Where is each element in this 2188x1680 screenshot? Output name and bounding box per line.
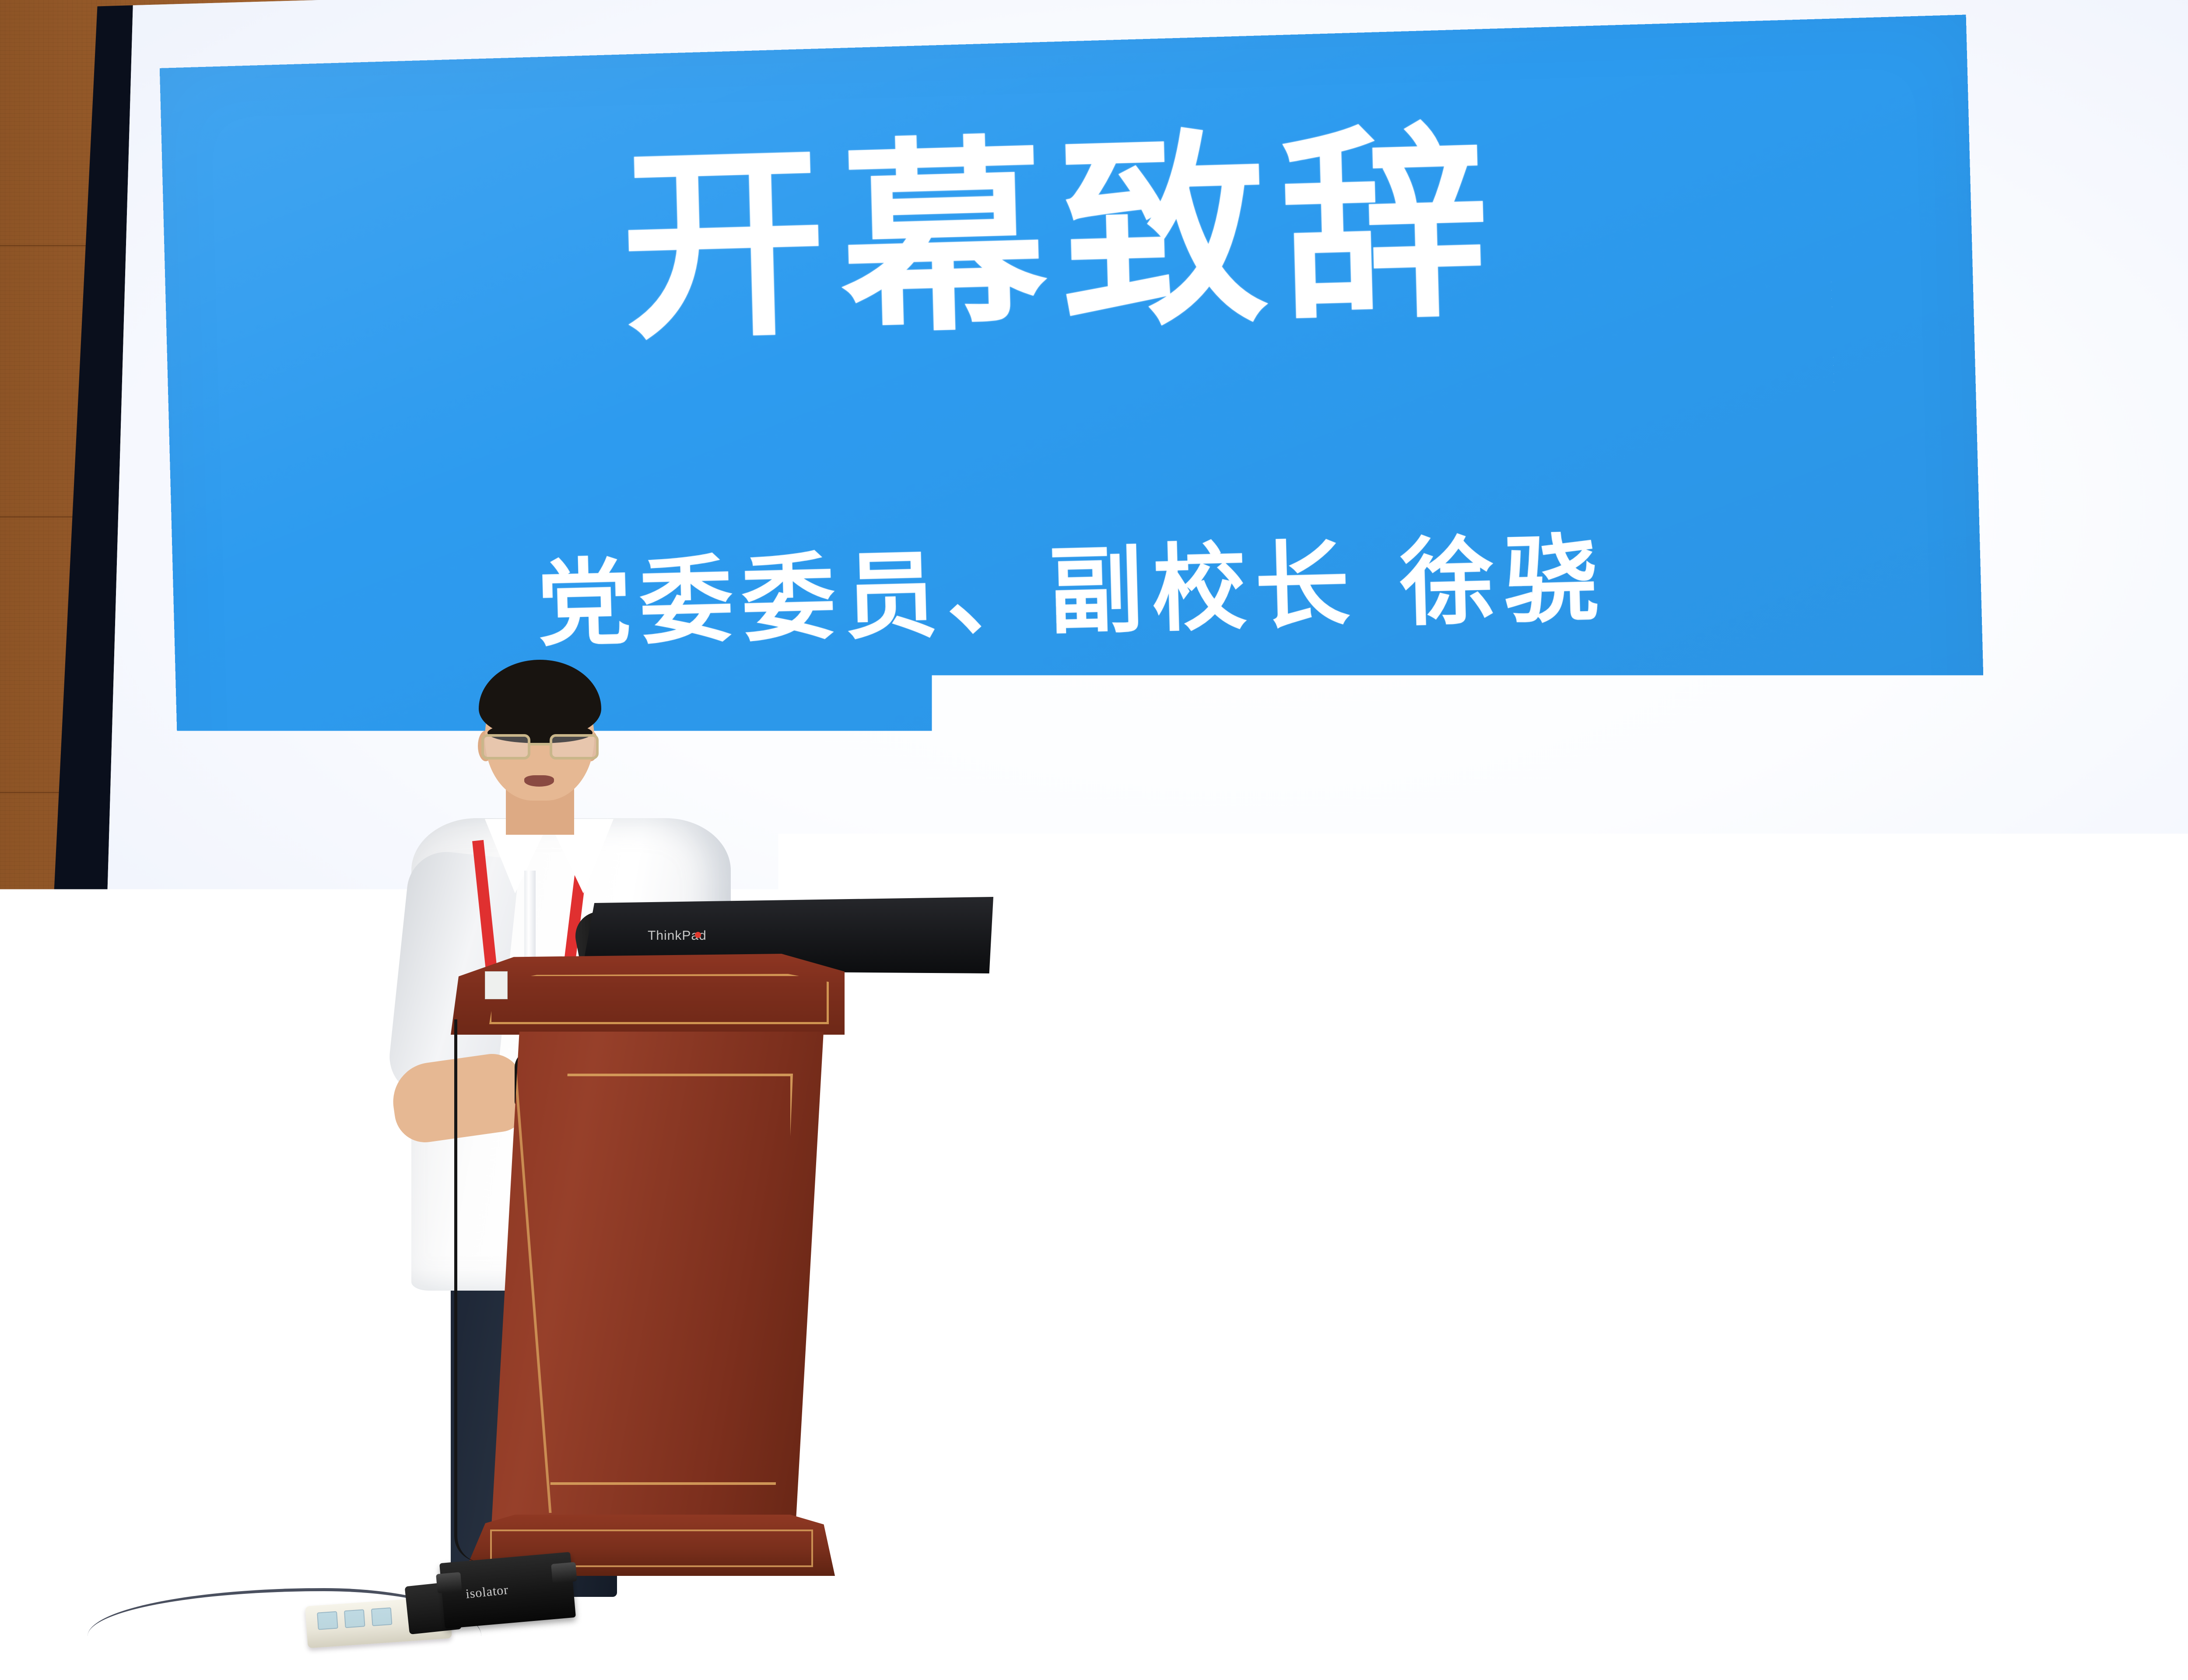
xlr-connector[interactable] xyxy=(436,1572,462,1593)
shirt-placket xyxy=(524,871,536,967)
lectern-body xyxy=(478,1032,824,1522)
presentation-hall-scene: 杭州医学院 HANGZHOU MEDICAL COLLEGE 开幕致辞 党委委员… xyxy=(0,0,2188,1680)
isolator-label: isolator xyxy=(465,1582,509,1602)
speaker-hair xyxy=(479,660,601,736)
floor-outlet-box[interactable] xyxy=(1529,1399,1575,1423)
microphone-cable-drape xyxy=(454,1019,494,1562)
glasses-lens-left xyxy=(481,734,530,759)
glasses-lens-right xyxy=(550,734,599,759)
speaker-mouth xyxy=(524,775,554,787)
xlr-connector[interactable] xyxy=(551,1562,577,1583)
lectern-front-inlay xyxy=(548,1074,793,1485)
lectern xyxy=(451,954,845,1601)
audio-isolator-box: isolator xyxy=(439,1552,576,1629)
lectern-top xyxy=(451,954,845,1035)
lectern-top-inlay xyxy=(489,974,829,1024)
floor-warm-left xyxy=(0,1330,333,1518)
projection-screen-frame: 杭州医学院 HANGZHOU MEDICAL COLLEGE 开幕致辞 党委委员… xyxy=(24,0,2188,1317)
power-socket[interactable] xyxy=(344,1609,365,1628)
lectern-edge-trim xyxy=(512,1040,552,1513)
glasses-bridge xyxy=(530,743,550,745)
power-socket[interactable] xyxy=(371,1607,393,1626)
lectern-sticker xyxy=(485,971,508,999)
floor-warm-right xyxy=(1864,1536,2188,1680)
power-socket[interactable] xyxy=(317,1611,338,1630)
laptop-brand-dot-icon xyxy=(695,932,701,938)
floor-outlet-box[interactable] xyxy=(1476,1408,1522,1432)
speaker-glasses-icon xyxy=(480,734,601,761)
floor-outlet-box[interactable] xyxy=(1030,1515,1076,1539)
